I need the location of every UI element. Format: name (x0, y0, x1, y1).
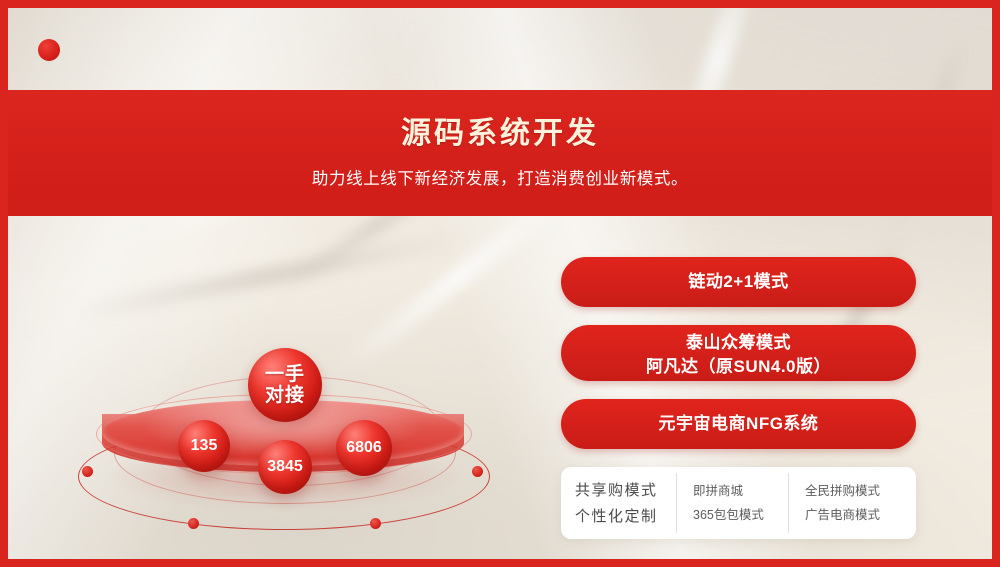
button-taishan-line1: 泰山众筹模式 (561, 331, 916, 355)
info-item-365-bag[interactable]: 365包包模式 (693, 509, 788, 522)
mode-button-list: 链动2+1模式 泰山众筹模式 阿凡达（原SUN4.0版） 元宇宙电商NFG系统 (561, 257, 916, 449)
main-bubble-line2: 对接 (265, 385, 305, 406)
data-bubble-3845: 3845 (258, 440, 312, 494)
info-item-national-group-buy[interactable]: 全民拼购模式 (805, 485, 916, 498)
button-chain-2-plus-1[interactable]: 链动2+1模式 (561, 257, 916, 307)
info-item-customization[interactable]: 个性化定制 (575, 509, 676, 524)
page-title: 源码系统开发 (401, 119, 599, 149)
button-metaverse-nfg[interactable]: 元宇宙电商NFG系统 (561, 399, 916, 449)
info-item-jipin-mall[interactable]: 即拼商城 (693, 485, 788, 498)
button-taishan-line2: 阿凡达（原SUN4.0版） (561, 355, 916, 379)
orbit-dot (82, 466, 93, 477)
orbit-illustration: 135 6806 3845 一手对接 (68, 328, 498, 558)
info-item-ad-ecommerce[interactable]: 广告电商模式 (805, 509, 916, 522)
hero-banner: 源码系统开发 助力线上线下新经济发展，打造消费创业新模式。 (8, 90, 992, 216)
data-bubble-6806: 6806 (336, 420, 392, 476)
info-item-shared-purchase[interactable]: 共享购模式 (575, 483, 676, 498)
orbit-dot (188, 518, 199, 529)
poster-inner-canvas: 源码系统开发 助力线上线下新经济发展，打造消费创业新模式。 135 6806 3… (8, 8, 992, 559)
main-bubble-line1: 一手 (265, 364, 305, 385)
button-taishan-crowdfunding[interactable]: 泰山众筹模式 阿凡达（原SUN4.0版） (561, 325, 916, 381)
page-subtitle: 助力线上线下新经济发展，打造消费创业新模式。 (312, 171, 688, 188)
info-column-2: 即拼商城 365包包模式 (676, 473, 788, 533)
promo-poster: 源码系统开发 助力线上线下新经济发展，打造消费创业新模式。 135 6806 3… (0, 0, 1000, 567)
main-bubble: 一手对接 (248, 348, 322, 422)
red-dot-icon (38, 39, 60, 61)
data-bubble-135: 135 (178, 420, 230, 472)
main-bubble-text: 一手对接 (265, 364, 305, 406)
orbit-dot (472, 466, 483, 477)
orbit-dot (370, 518, 381, 529)
info-column-3: 全民拼购模式 广告电商模式 (788, 473, 916, 533)
mode-info-card: 共享购模式 个性化定制 即拼商城 365包包模式 全民拼购模式 广告电商模式 (561, 467, 916, 539)
info-column-1: 共享购模式 个性化定制 (561, 473, 676, 533)
